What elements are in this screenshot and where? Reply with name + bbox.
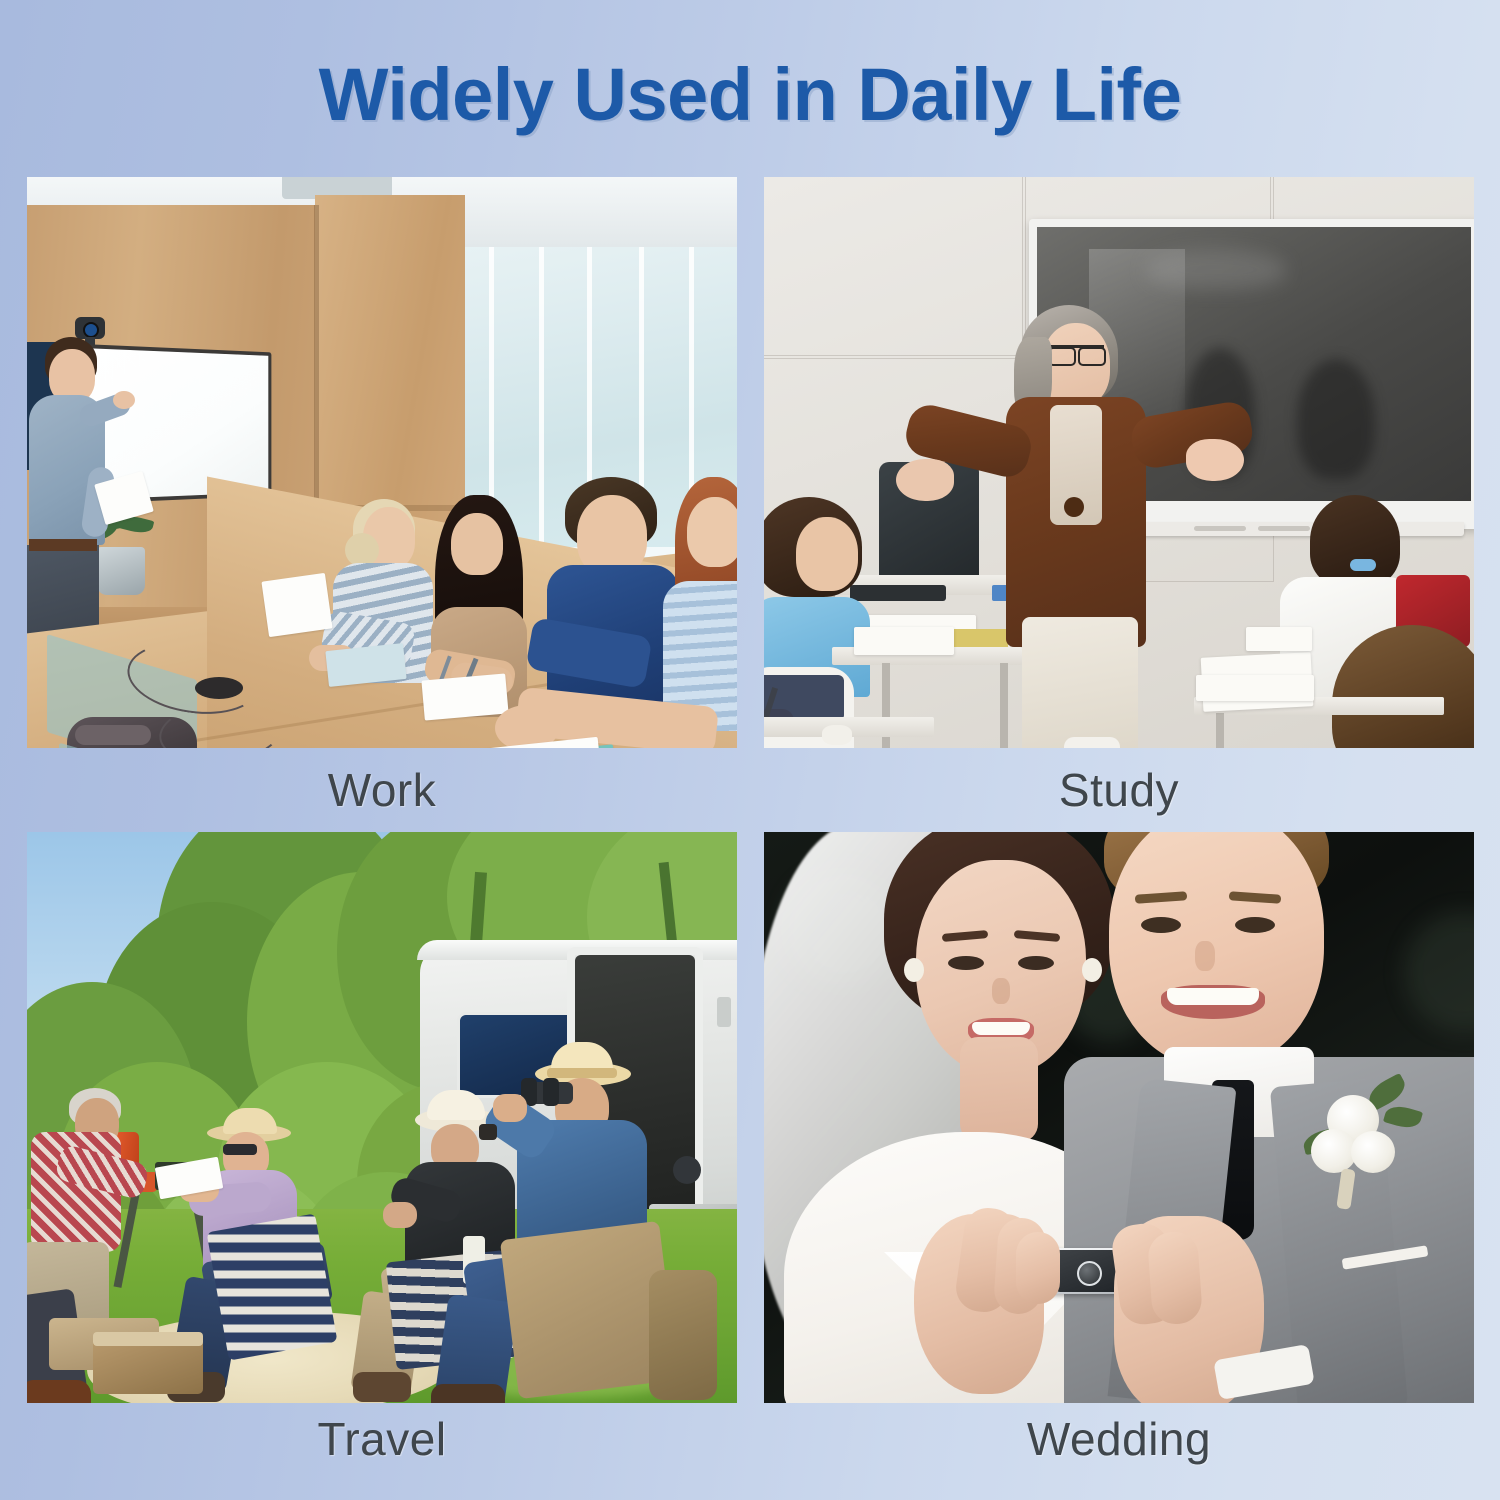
groom-face xyxy=(1109,832,1324,1067)
wedding-photo xyxy=(764,832,1474,1403)
page-title: Widely Used in Daily Life xyxy=(0,52,1500,137)
gallery-item-work[interactable] xyxy=(27,177,737,748)
caption-work: Work xyxy=(27,748,737,832)
study-photo xyxy=(764,177,1474,748)
boutonniere xyxy=(1309,1087,1417,1207)
caption-study: Study xyxy=(764,748,1474,832)
use-case-gallery: Work Study xyxy=(27,177,1474,1474)
gallery-item-travel[interactable] xyxy=(27,832,737,1403)
conference-camera-icon xyxy=(75,317,105,339)
travel-photo xyxy=(27,832,737,1403)
work-photo xyxy=(27,177,737,748)
gallery-item-wedding[interactable] xyxy=(764,832,1474,1403)
caption-wedding: Wedding xyxy=(764,1403,1474,1474)
gallery-item-study[interactable] xyxy=(764,177,1474,748)
promo-infographic: Widely Used in Daily Life xyxy=(0,0,1500,1500)
caption-travel: Travel xyxy=(27,1403,737,1474)
